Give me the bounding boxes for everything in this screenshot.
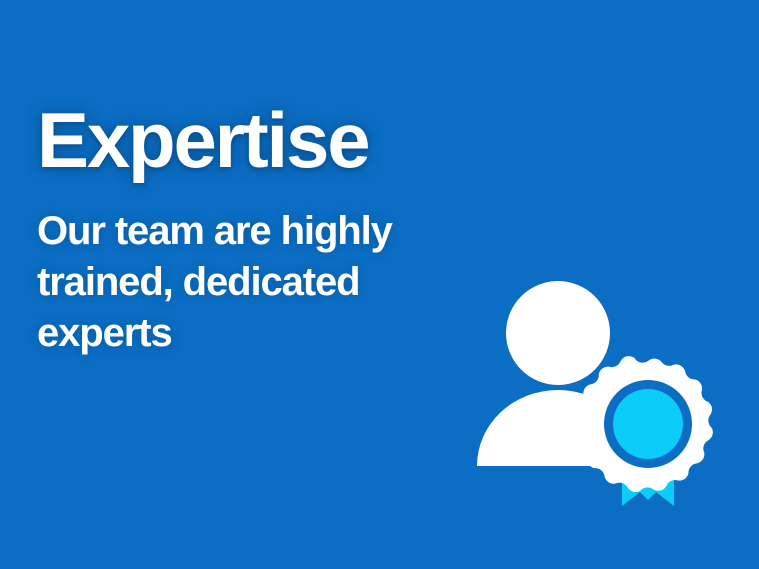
subheading-line-2: trained, dedicated — [37, 257, 467, 308]
text-block: Expertise Our team are highly trained, d… — [37, 98, 467, 359]
subheading-line-1: Our team are highly — [37, 206, 467, 257]
expertise-slide: Expertise Our team are highly trained, d… — [0, 0, 759, 569]
page-title: Expertise — [37, 98, 467, 182]
subheading: Our team are highly trained, dedicated e… — [37, 206, 467, 359]
expert-person-award-badge-illustration — [455, 255, 725, 525]
award-rosette-icon — [575, 356, 713, 492]
subheading-line-3: experts — [37, 308, 467, 359]
